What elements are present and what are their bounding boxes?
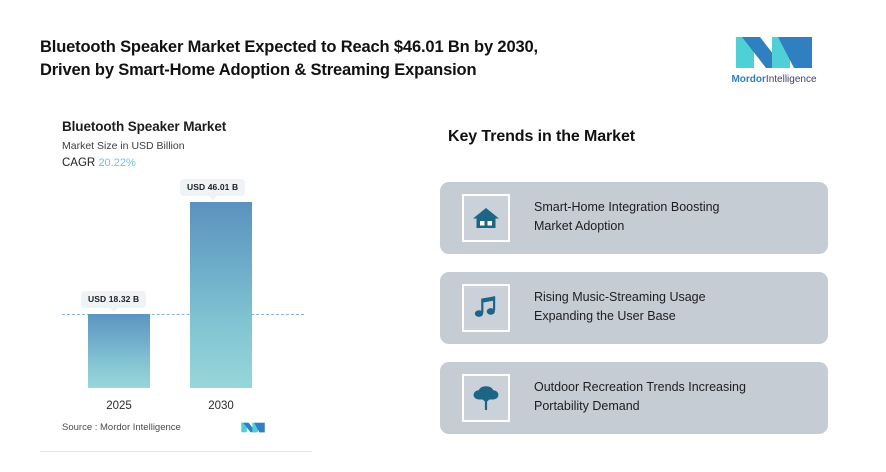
trend-text-line-2: Market Adoption: [534, 217, 816, 236]
chart-title: Bluetooth Speaker Market: [62, 119, 226, 134]
chart-cagr: CAGR 20.22%: [62, 157, 136, 169]
music-note-icon: [462, 284, 510, 332]
infographic-page: Bluetooth Speaker Market Expected to Rea…: [0, 0, 886, 472]
brand-logo: MordorIntelligence: [718, 34, 830, 92]
market-size-chart-card: Bluetooth Speaker Market Market Size in …: [40, 104, 312, 452]
mordor-logo-mark-icon: [732, 34, 816, 71]
page-title: Bluetooth Speaker Market Expected to Rea…: [40, 36, 680, 83]
bar-value-label-2030: USD 46.01 B: [180, 179, 245, 196]
house-icon: [462, 194, 510, 242]
x-axis-tick-2025: 2025: [88, 400, 150, 412]
trend-text-line-2: Expanding the User Base: [534, 307, 816, 326]
trend-card-music-streaming[interactable]: Rising Music-Streaming Usage Expanding t…: [440, 272, 828, 344]
trend-text-line-1: Rising Music-Streaming Usage: [534, 290, 706, 304]
trend-text-line-1: Smart-Home Integration Boosting: [534, 200, 720, 214]
trend-text-line-2: Portability Demand: [534, 397, 816, 416]
cagr-label: CAGR: [62, 157, 95, 169]
trend-card-text: Rising Music-Streaming Usage Expanding t…: [534, 288, 816, 327]
page-title-line-2: Driven by Smart-Home Adoption & Streamin…: [40, 59, 680, 82]
trend-text-line-1: Outdoor Recreation Trends Increasing: [534, 380, 746, 394]
trend-card-smart-home[interactable]: Smart-Home Integration Boosting Market A…: [440, 182, 828, 254]
cagr-value: 20.22%: [98, 157, 135, 169]
brand-word-intelligence: Intelligence: [766, 74, 817, 85]
trend-card-outdoor-recreation[interactable]: Outdoor Recreation Trends Increasing Por…: [440, 362, 828, 434]
mordor-logo-mark-small-icon: [240, 421, 266, 434]
bar-2030[interactable]: [190, 202, 252, 388]
bar-2025[interactable]: [88, 314, 150, 388]
bar-chart-plot-area: USD 18.32 B USD 46.01 B 2025 2030: [40, 176, 312, 406]
trend-card-text: Outdoor Recreation Trends Increasing Por…: [534, 378, 816, 417]
brand-word-mordor: Mordor: [731, 74, 765, 85]
page-title-line-1: Bluetooth Speaker Market Expected to Rea…: [40, 38, 538, 56]
chart-source-row: Source : Mordor Intelligence: [62, 421, 298, 437]
x-axis-tick-2030: 2030: [190, 400, 252, 412]
chart-subtitle: Market Size in USD Billion: [62, 140, 185, 152]
bar-value-label-2025: USD 18.32 B: [81, 291, 146, 308]
chart-source-label: Source : Mordor Intelligence: [62, 422, 181, 433]
key-trends-heading: Key Trends in the Market: [448, 128, 635, 146]
trend-card-text: Smart-Home Integration Boosting Market A…: [534, 198, 816, 237]
tree-icon: [462, 374, 510, 422]
brand-logo-wordmark: MordorIntelligence: [718, 74, 830, 86]
